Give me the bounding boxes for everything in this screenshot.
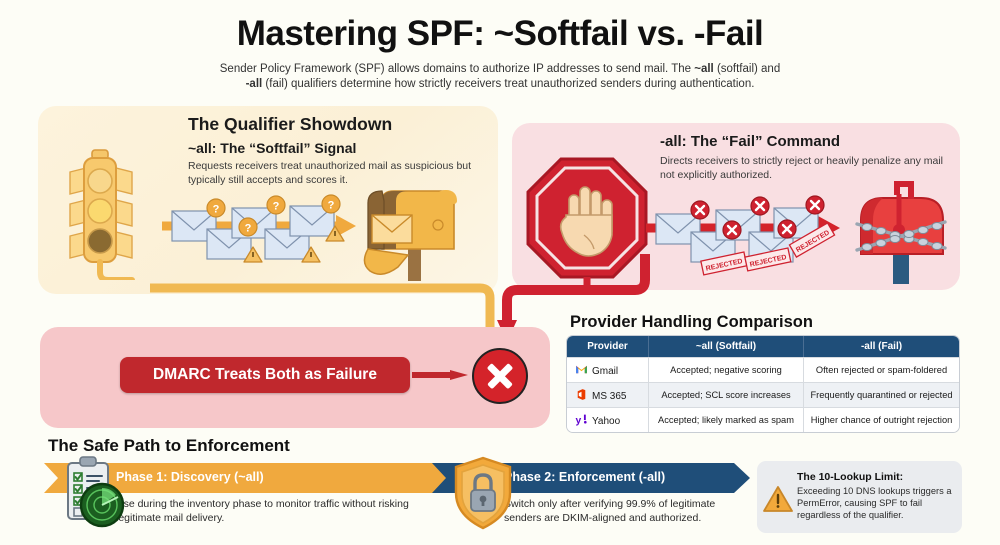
microsoft-365-icon	[575, 388, 588, 401]
softfail-heading: ~all: The “Softfail” Signal	[188, 140, 356, 156]
fail-cell: Frequently quarantined or rejected	[804, 382, 959, 407]
phase-1-description: Use during the inventory phase to monito…	[116, 497, 416, 525]
softfail-cell: Accepted; negative scoring	[649, 357, 804, 382]
svg-text:?: ?	[245, 223, 252, 235]
svg-text:?: ?	[213, 204, 220, 216]
svg-text:?: ?	[273, 201, 280, 213]
softfail-cell: Accepted; likely marked as spam	[649, 407, 804, 432]
column-fail: -all (Fail)	[804, 336, 959, 357]
provider-comparison-table: Provider ~all (Softfail) -all (Fail) Gma…	[567, 336, 959, 432]
subtitle-part-3: (fail) qualifiers determine how strictly…	[262, 78, 754, 90]
provider-cell-gmail: Gmail	[567, 357, 649, 382]
subtitle-part-1: Sender Policy Framework (SPF) allows dom…	[220, 63, 694, 75]
provider-name: Gmail	[592, 366, 618, 377]
warning-triangle-icon	[763, 485, 793, 513]
subtitle-part-2: (softfail) and	[714, 63, 780, 75]
dmarc-label: DMARC Treats Both as Failure	[120, 357, 410, 393]
fail-cell: Higher chance of outright rejection	[804, 407, 959, 432]
subtitle-dash-all: -all	[246, 78, 263, 90]
column-softfail: ~all (Softfail)	[649, 336, 804, 357]
clipboard-radar-icon	[62, 455, 124, 531]
lookup-limit-description: Exceeding 10 DNS lookups triggers a Perm…	[797, 485, 957, 521]
provider-name: MS 365	[592, 391, 626, 402]
dmarc-arrow-icon	[412, 370, 468, 380]
shield-lock-icon	[452, 455, 514, 531]
phase-2-description: Switch only after verifying 99.9% of leg…	[504, 497, 754, 525]
page-subtitle: Sender Policy Framework (SPF) allows dom…	[180, 62, 820, 92]
lookup-limit-title: The 10-Lookup Limit:	[797, 471, 903, 483]
page-title: Mastering SPF: ~Softfail vs. -Fail	[0, 14, 1000, 54]
safe-path-title: The Safe Path to Enforcement	[48, 436, 290, 456]
table-title: Provider Handling Comparison	[570, 313, 813, 332]
column-provider: Provider	[567, 336, 649, 357]
provider-cell-ms365: MS 365	[567, 382, 649, 407]
fail-cell: Often rejected or spam-foldered	[804, 357, 959, 382]
provider-name: Yahoo	[592, 416, 620, 427]
table-header-row: Provider ~all (Softfail) -all (Fail)	[567, 336, 959, 357]
fail-heading: -all: The “Fail” Command	[660, 133, 840, 150]
svg-text:?: ?	[328, 200, 335, 212]
yahoo-icon: y	[575, 413, 588, 426]
chained-mailbox-icon	[847, 180, 957, 285]
provider-cell-yahoo: y Yahoo	[567, 407, 649, 432]
fail-description: Directs receivers to strictly reject or …	[660, 155, 950, 182]
svg-text:y: y	[576, 415, 582, 426]
softfail-cell: Accepted; SCL score increases	[649, 382, 804, 407]
fail-envelope-flow: REJECTED REJECTED REJECTED	[644, 188, 844, 278]
table-row: y Yahoo Accepted; likely marked as spam …	[567, 407, 959, 432]
subtitle-tilde-all: ~all	[694, 63, 714, 75]
softfail-envelope-flow: ? ? ? ?	[160, 186, 360, 278]
infographic-root: Mastering SPF: ~Softfail vs. -Fail Sende…	[0, 0, 1000, 545]
qualifier-showdown-title: The Qualifier Showdown	[188, 114, 392, 135]
table-row: Gmail Accepted; negative scoring Often r…	[567, 357, 959, 382]
x-circle-icon	[472, 348, 528, 404]
traffic-light-icon	[62, 148, 140, 280]
table-row: MS 365 Accepted; SCL score increases Fre…	[567, 382, 959, 407]
gmail-icon	[575, 363, 588, 376]
